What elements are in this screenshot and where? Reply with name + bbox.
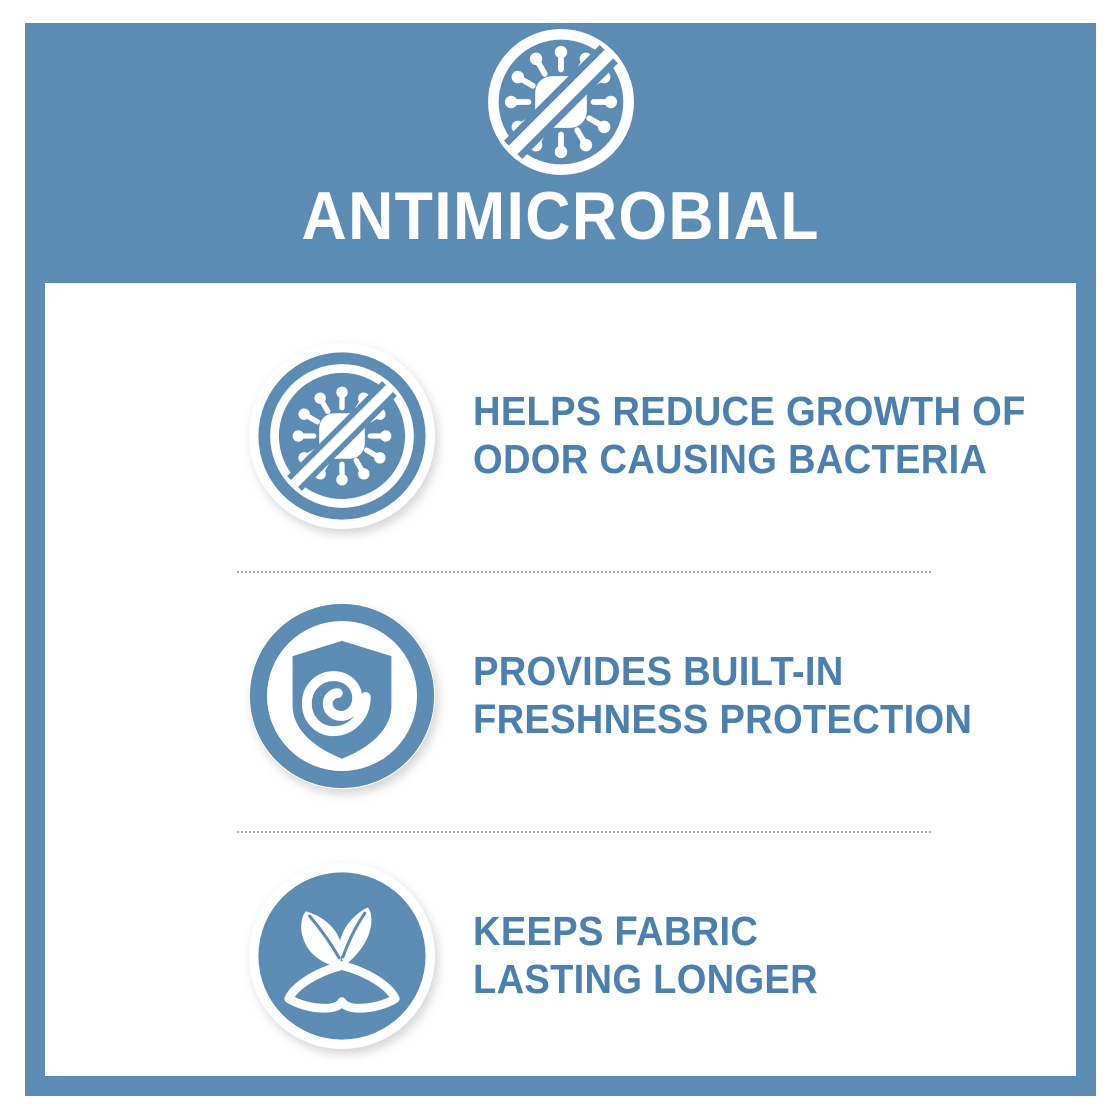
- shield-freshness-icon: [247, 601, 437, 791]
- feature-line-1: HELPS REDUCE GROWTH OF: [473, 388, 1026, 436]
- feature-line-2: FRESHNESS PROTECTION: [473, 696, 972, 744]
- feature-text: PROVIDES BUILT-IN FRESHNESS PROTECTION: [473, 648, 972, 743]
- content-panel: HELPS REDUCE GROWTH OF ODOR CAUSING BACT…: [45, 283, 1076, 1076]
- feature-icon-leaf-fabric: [247, 861, 437, 1051]
- feature-text: HELPS REDUCE GROWTH OF ODOR CAUSING BACT…: [473, 388, 1026, 483]
- divider: [237, 571, 931, 573]
- feature-icon-shield: [247, 601, 437, 791]
- no-bacteria-icon: [247, 341, 437, 531]
- feature-line-2: ODOR CAUSING BACTERIA: [473, 436, 1026, 484]
- feature-line-2: LASTING LONGER: [473, 956, 818, 1004]
- feature-icon-no-bacteria: [247, 341, 437, 531]
- antimicrobial-infographic: ANTIMICROBIAL: [0, 0, 1120, 1120]
- blue-frame-border: ANTIMICROBIAL: [25, 23, 1096, 1096]
- no-bacteria-icon: [485, 26, 637, 178]
- list-item: PROVIDES BUILT-IN FRESHNESS PROTECTION: [45, 581, 1076, 811]
- page-title: ANTIMICROBIAL: [301, 182, 819, 250]
- header-banner: ANTIMICROBIAL: [25, 23, 1096, 283]
- list-item: HELPS REDUCE GROWTH OF ODOR CAUSING BACT…: [45, 321, 1076, 551]
- list-item: KEEPS FABRIC LASTING LONGER: [45, 841, 1076, 1071]
- feature-line-1: PROVIDES BUILT-IN: [473, 648, 972, 696]
- feature-text: KEEPS FABRIC LASTING LONGER: [473, 908, 818, 1003]
- feature-line-1: KEEPS FABRIC: [473, 908, 818, 956]
- feature-list: HELPS REDUCE GROWTH OF ODOR CAUSING BACT…: [45, 283, 1076, 1076]
- leaf-fabric-icon: [247, 861, 437, 1051]
- divider: [237, 831, 931, 833]
